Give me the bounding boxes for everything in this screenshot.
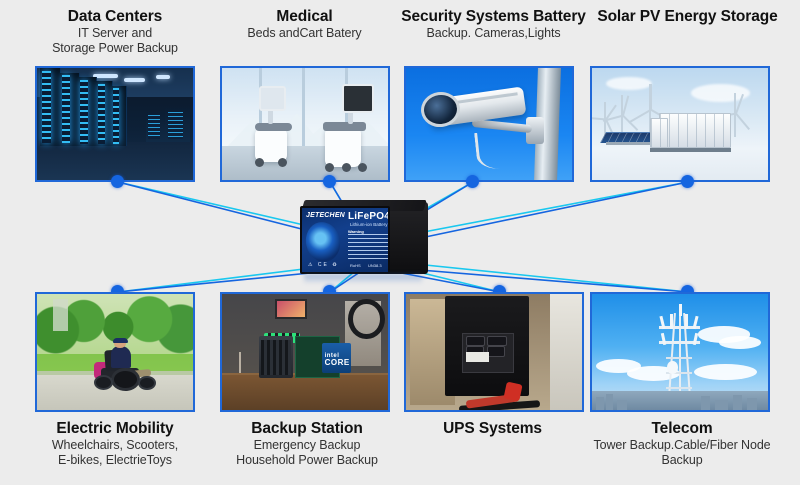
caption-title: Data Centers [20, 8, 210, 26]
battery-reflection [304, 274, 422, 284]
caption-title: Backup Station [212, 420, 402, 438]
caption-subtitle-1: Beds andCart Batery [212, 26, 397, 41]
battery-hologram-graphic [302, 219, 344, 265]
caption-title: Solar PV Energy Storage [595, 8, 780, 25]
caption-subtitle-1: Wheelchairs, Scooters, [20, 438, 210, 453]
caption-subtitle-2: Household Power Backup [212, 453, 402, 468]
caption-subtitle-2: Storage Power Backup [20, 41, 210, 56]
panel-medical[interactable] [220, 66, 390, 182]
caption-subtitle-1: Tower Backup.Cable/Fiber Node [582, 438, 782, 453]
connector-dot-solar [681, 175, 694, 188]
caption-subtitle-1: Backup. Cameras,Lights [396, 26, 591, 41]
image-telecom-tower [592, 294, 768, 410]
caption-medical: Medical Beds andCart Batery [212, 8, 397, 41]
image-data-center [37, 68, 193, 180]
image-electric-wheelchair [37, 294, 193, 410]
panel-backup-station[interactable]: intelCORE [220, 292, 390, 412]
image-backup-station-desk: intelCORE [222, 294, 388, 410]
battery-subtitle: Lithium-ion Battery [350, 222, 388, 227]
caption-ups-systems: UPS Systems [400, 420, 585, 438]
panel-data-centers[interactable] [35, 66, 195, 182]
caption-subtitle-2: E-bikes, ElectrieToys [20, 453, 210, 468]
battery-mark-un: UN38.3 [368, 263, 382, 268]
caption-title: UPS Systems [400, 420, 585, 438]
connector-dot-data-centers [111, 175, 124, 188]
battery-brand: JETECHEN [306, 212, 345, 219]
battery-side-face [384, 202, 428, 274]
caption-title: Telecom [582, 420, 782, 438]
infographic-canvas: Data Centers IT Server and Storage Power… [0, 0, 800, 485]
caption-solar-pv: Solar PV Energy Storage [595, 8, 780, 25]
caption-telecom: Telecom Tower Backup.Cable/Fiber Node Ba… [582, 420, 782, 468]
connector-dot-medical [323, 175, 336, 188]
caption-data-centers: Data Centers IT Server and Storage Power… [20, 8, 210, 56]
image-security-camera [406, 68, 572, 180]
caption-title: Medical [212, 8, 397, 26]
battery-mark-rohs: RoHS [350, 263, 361, 268]
image-ups-unit [406, 294, 582, 410]
image-solar-pv-storage [592, 68, 768, 180]
battery-chemistry: LiFePO4 [348, 211, 390, 222]
battery-cert-marks: ⚠ CE ♻ [308, 262, 339, 268]
panel-electric-mobility[interactable] [35, 292, 195, 412]
center-battery-product[interactable]: JETECHEN LiFePO4 Lithium-ion Battery War… [300, 200, 430, 280]
caption-electric-mobility: Electric Mobility Wheelchairs, Scooters,… [20, 420, 210, 468]
caption-subtitle-1: IT Server and [20, 26, 210, 41]
battery-warning-lines [348, 234, 390, 260]
connector-dot-security [466, 175, 479, 188]
caption-security-systems: Security Systems Battery Backup. Cameras… [396, 8, 591, 41]
panel-telecom[interactable] [590, 292, 770, 412]
panel-security-systems[interactable] [404, 66, 574, 182]
battery-front-label: JETECHEN LiFePO4 Lithium-ion Battery War… [300, 206, 390, 274]
caption-title: Electric Mobility [20, 420, 210, 438]
caption-subtitle-1: Emergency Backup [212, 438, 402, 453]
caption-title: Security Systems Battery [396, 8, 591, 26]
panel-solar-pv[interactable] [590, 66, 770, 182]
panel-ups-systems[interactable] [404, 292, 584, 412]
image-medical [222, 68, 388, 180]
caption-subtitle-2: Backup [582, 453, 782, 468]
caption-backup-station: Backup Station Emergency Backup Househol… [212, 420, 402, 468]
